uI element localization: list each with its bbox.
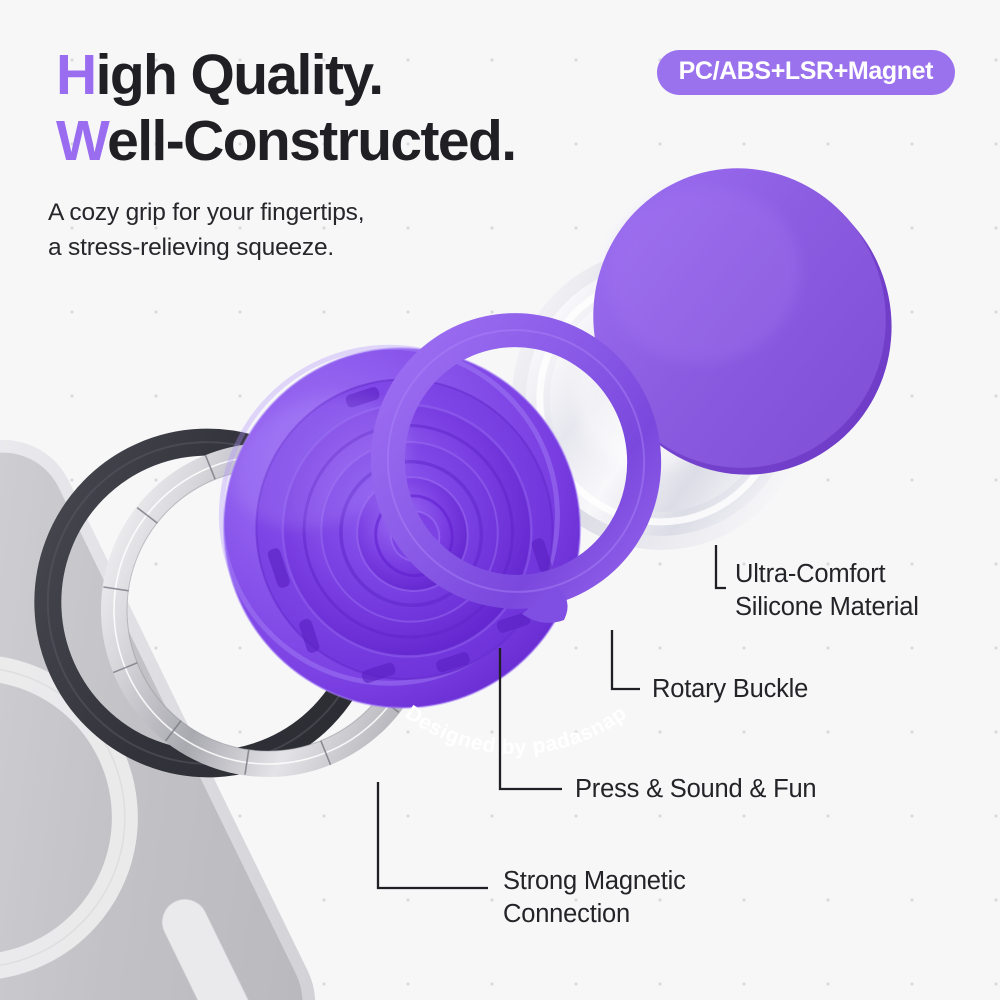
leader-line-magnetic <box>378 782 488 888</box>
infographic-canvas: Designed by padasnap High Quality. Well-… <box>0 0 1000 1000</box>
headline-cap-h: H <box>56 43 96 107</box>
headline-line-1: High Quality. <box>56 42 515 108</box>
page-title: High Quality. Well-Constructed. <box>56 42 515 174</box>
leader-line-rotary <box>612 630 640 689</box>
page-subtitle: A cozy grip for your fingertips, a stres… <box>48 196 364 266</box>
headline-rest-1: igh Quality. <box>96 43 383 107</box>
headline-cap-w: W <box>56 109 107 173</box>
material-badge: PC/ABS+LSR+Magnet <box>657 50 955 95</box>
headline-line-2: Well-Constructed. <box>56 108 515 174</box>
headline-rest-2: ell-Constructed. <box>107 109 515 173</box>
callout-label-rotary-buckle: Rotary Buckle <box>652 673 808 706</box>
callout-label-ultra-comfort-silicone-material: Ultra-Comfort Silicone Material <box>735 558 919 624</box>
leader-line-silicone <box>716 545 726 588</box>
callout-label-press-sound-fun: Press & Sound & Fun <box>575 773 816 806</box>
ring-engraving-text: Designed by padasnap <box>401 701 631 759</box>
callout-label-strong-magnetic-connection: Strong Magnetic Connection <box>503 865 686 931</box>
